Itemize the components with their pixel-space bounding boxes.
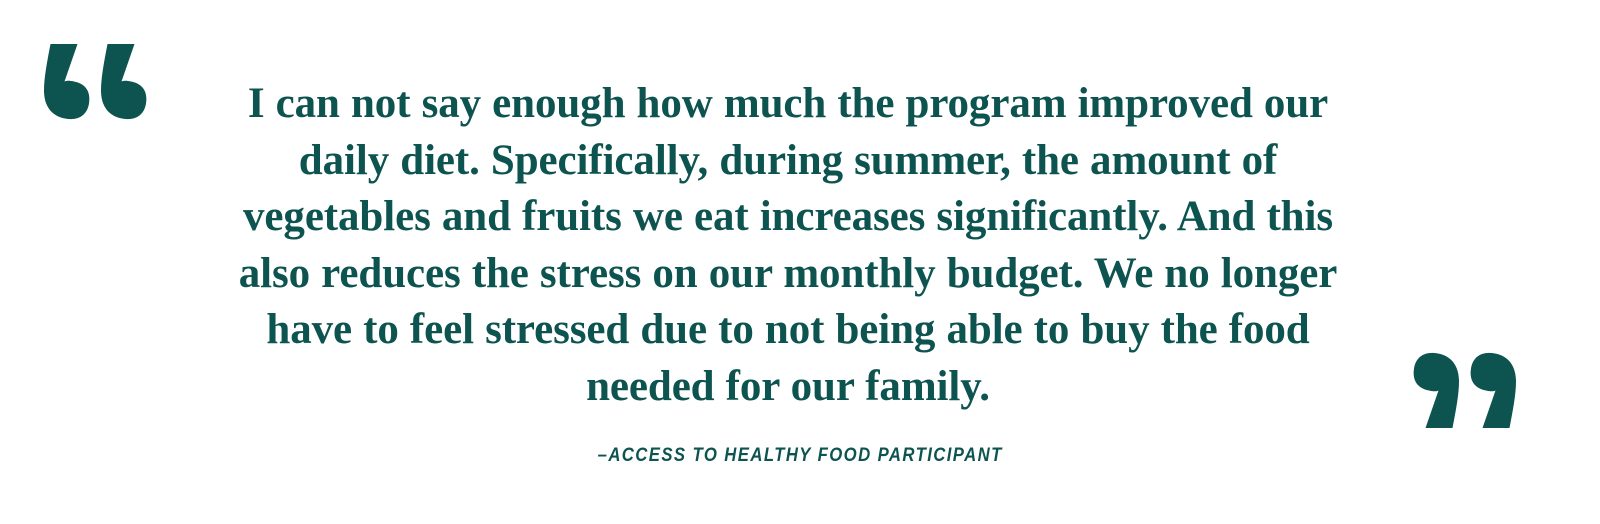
quote-line: needed for our family. [128, 359, 1448, 416]
quote-line: daily diet. Specifically, during summer,… [128, 133, 1448, 190]
quote-line: also reduces the stress on our monthly b… [128, 246, 1448, 303]
pullquote-canvas: I can not say enough how much the progra… [0, 0, 1600, 524]
attribution-row: –ACCESS TO HEALTHY FOOD PARTICIPANT [0, 444, 1600, 468]
pullquote-body: I can not say enough how much the progra… [128, 76, 1448, 415]
quote-line: I can not say enough how much the progra… [128, 76, 1448, 133]
quote-line: have to feel stressed due to not being a… [128, 302, 1448, 359]
quote-line: vegetables and fruits we eat increases s… [128, 189, 1448, 246]
attribution-text: –ACCESS TO HEALTHY FOOD PARTICIPANT [597, 444, 1002, 468]
pullquote-text: I can not say enough how much the progra… [128, 76, 1448, 415]
